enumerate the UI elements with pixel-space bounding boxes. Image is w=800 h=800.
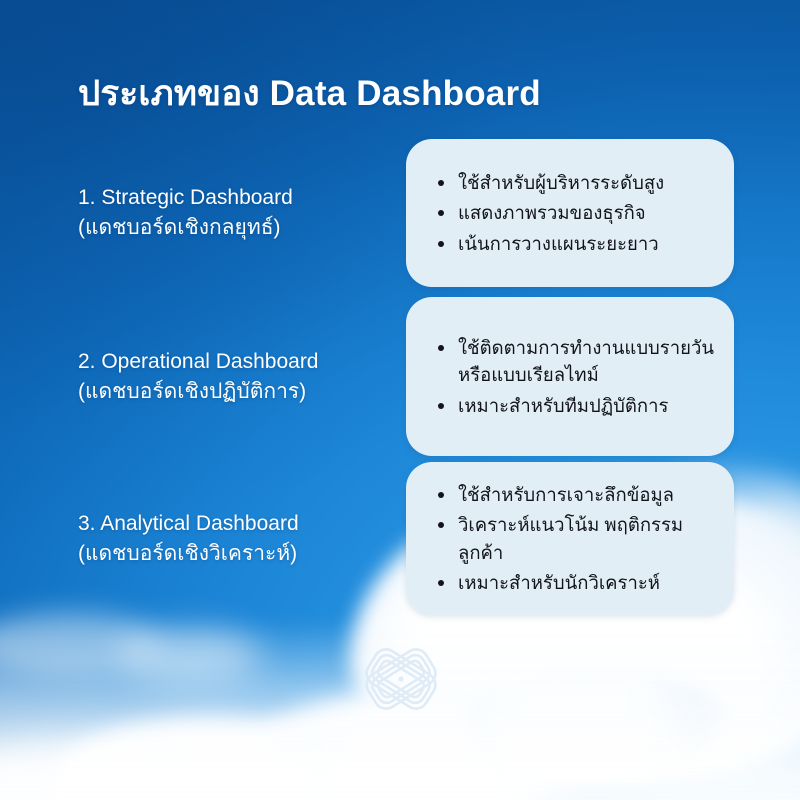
list-item-text: ใช้สำหรับการเจาะลึกข้อมูล	[458, 484, 674, 505]
list-item-text: วิเคราะห์แนวโน้ม พฤติกรรมลูกค้า	[458, 514, 683, 562]
bullet-dot-icon	[438, 180, 444, 186]
dashboard-type-label-th: (แดชบอร์ดเชิงกลยุทธ์)	[78, 213, 408, 243]
list-item-text: ใช้สำหรับผู้บริหารระดับสูง	[458, 172, 664, 193]
page-title: ประเภทของ Data Dashboard	[78, 72, 718, 116]
list-item-text: แสดงภาพรวมของธุรกิจ	[458, 202, 646, 223]
dashboard-type-label: 2. Operational Dashboard (แดชบอร์ดเชิงปฏ…	[78, 347, 408, 407]
bullet-dot-icon	[438, 210, 444, 216]
bullet-list: ใช้สำหรับการเจาะลึกข้อมูล วิเคราะห์แนวโน…	[436, 481, 714, 596]
list-item: ใช้ติดตามการทำงานแบบรายวันหรือแบบเรียลไท…	[436, 334, 714, 388]
dashboard-type-card: ใช้สำหรับผู้บริหารระดับสูง แสดงภาพรวมของ…	[406, 139, 734, 287]
dashboard-type-row: 1. Strategic Dashboard (แดชบอร์ดเชิงกลยุ…	[0, 139, 800, 287]
bullet-dot-icon	[438, 345, 444, 351]
list-item-text: ใช้ติดตามการทำงานแบบรายวันหรือแบบเรียลไท…	[458, 337, 714, 385]
bullet-dot-icon	[438, 403, 444, 409]
bullet-dot-icon	[438, 522, 444, 528]
bullet-dot-icon	[438, 580, 444, 586]
bullet-list: ใช้ติดตามการทำงานแบบรายวันหรือแบบเรียลไท…	[436, 334, 714, 419]
list-item-text: เหมาะสำหรับนักวิเคราะห์	[458, 572, 660, 593]
dashboard-type-row: 2. Operational Dashboard (แดชบอร์ดเชิงปฏ…	[0, 297, 800, 456]
list-item: ใช้สำหรับผู้บริหารระดับสูง	[436, 169, 714, 196]
poster-canvas: ประเภทของ Data Dashboard 1. Strategic Da…	[0, 0, 800, 800]
bullet-dot-icon	[438, 492, 444, 498]
dashboard-type-label: 3. Analytical Dashboard (แดชบอร์ดเชิงวิเ…	[78, 509, 408, 569]
list-item: วิเคราะห์แนวโน้ม พฤติกรรมลูกค้า	[436, 511, 714, 565]
bullet-list: ใช้สำหรับผู้บริหารระดับสูง แสดงภาพรวมของ…	[436, 169, 714, 257]
list-item: ใช้สำหรับการเจาะลึกข้อมูล	[436, 481, 714, 508]
dashboard-type-row: 3. Analytical Dashboard (แดชบอร์ดเชิงวิเ…	[0, 462, 800, 615]
dashboard-type-card: ใช้สำหรับการเจาะลึกข้อมูล วิเคราะห์แนวโน…	[406, 462, 734, 615]
list-item-text: เน้นการวางแผนระยะยาว	[458, 233, 659, 254]
dashboard-type-label-th: (แดชบอร์ดเชิงปฏิบัติการ)	[78, 377, 408, 407]
list-item: เน้นการวางแผนระยะยาว	[436, 230, 714, 257]
brand-logo-icon	[355, 641, 447, 717]
dashboard-type-label-en: 3. Analytical Dashboard	[78, 509, 408, 539]
dashboard-type-label-th: (แดชบอร์ดเชิงวิเคราะห์)	[78, 539, 408, 569]
list-item: เหมาะสำหรับทีมปฏิบัติการ	[436, 392, 714, 419]
list-item: เหมาะสำหรับนักวิเคราะห์	[436, 569, 714, 596]
dashboard-type-label: 1. Strategic Dashboard (แดชบอร์ดเชิงกลยุ…	[78, 183, 408, 243]
list-item: แสดงภาพรวมของธุรกิจ	[436, 199, 714, 226]
dashboard-type-label-en: 2. Operational Dashboard	[78, 347, 408, 377]
bullet-dot-icon	[438, 241, 444, 247]
list-item-text: เหมาะสำหรับทีมปฏิบัติการ	[458, 395, 668, 416]
dashboard-type-label-en: 1. Strategic Dashboard	[78, 183, 408, 213]
dashboard-type-card: ใช้ติดตามการทำงานแบบรายวันหรือแบบเรียลไท…	[406, 297, 734, 456]
